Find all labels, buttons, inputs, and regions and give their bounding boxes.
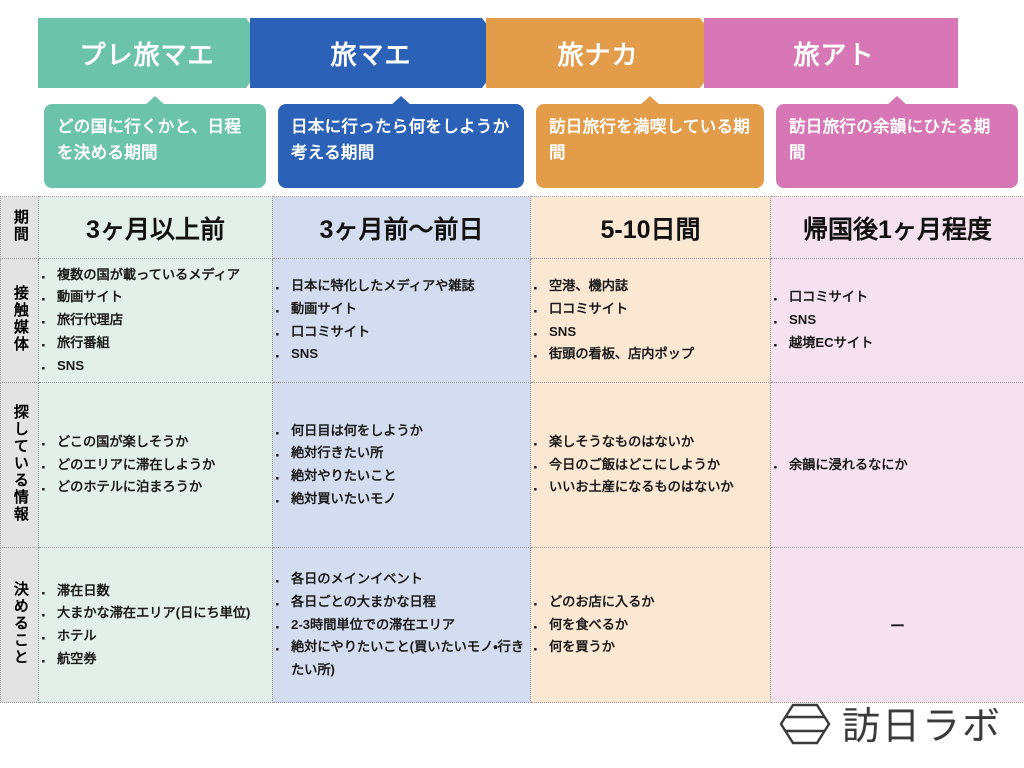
media-cell-before-trip: 日本に特化したメディアや雑誌動画サイト口コミサイトSNS [273, 259, 531, 383]
media-cell-pre-trip: 複数の国が載っているメディア動画サイト旅行代理店旅行番組SNS [39, 259, 273, 383]
list-item: 絶対買いたいモノ [273, 488, 530, 511]
period-cell-after-trip: 帰国後1ヶ月程度 [771, 197, 1024, 259]
brand-logo-text: 訪日ラボ [842, 708, 1002, 746]
list-item: 何日目は何をしようか [273, 420, 530, 443]
deciding-cell-after-trip: ー [771, 548, 1024, 703]
phase-arrow-during-trip[interactable]: 旅ナカ [486, 18, 726, 88]
phase-arrow-pre-trip[interactable]: プレ旅マエ [38, 18, 272, 88]
list-item: 2-3時間単位での滞在エリア [273, 614, 530, 637]
callout-wrap-pre-trip: どの国に行くかと、日程を決める期間 [38, 96, 272, 188]
callout-during-trip: 訪日旅行を満喫している期間 [536, 104, 764, 188]
list-item: 滞在日数 [39, 580, 272, 603]
phase-description-callouts: どの国に行くかと、日程を決める期間 日本に行ったら何をしようか考える期間 訪日旅… [38, 96, 1024, 188]
list-item: いいお土産になるものはないか [531, 476, 770, 499]
list-item: 空港、機内誌 [531, 275, 770, 298]
searching-cell-pre-trip: どこの国が楽しそうかどのエリアに滞在しようかどのホテルに泊まろうか [39, 383, 273, 548]
searching-cell-before-trip: 何日目は何をしようか絶対行きたい所絶対やりたいこと絶対買いたいモノ [273, 383, 531, 548]
bullet-list: どこの国が楽しそうかどのエリアに滞在しようかどのホテルに泊まろうか [39, 431, 272, 499]
deciding-cell-before-trip: 各日のメインイベント各日ごとの大まかな日程2-3時間単位での滞在エリア絶対にやり… [273, 548, 531, 703]
list-item: 口コミサイト [771, 286, 1024, 309]
list-item: どのホテルに泊まろうか [39, 476, 272, 499]
hexagon-logo-icon [779, 701, 831, 752]
row-label-text: 接触媒体 [11, 285, 28, 353]
callout-before-trip: 日本に行ったら何をしようか考える期間 [278, 104, 524, 188]
phase-arrow-banner: プレ旅マエ 旅マエ 旅ナカ 旅アト [38, 18, 1024, 88]
period-cell-during-trip: 5-10日間 [531, 197, 771, 259]
list-item: どこの国が楽しそうか [39, 431, 272, 454]
bullet-list: 複数の国が載っているメディア動画サイト旅行代理店旅行番組SNS [39, 264, 272, 378]
brand-logo[interactable]: 訪日ラボ [779, 701, 1002, 752]
phase-arrow-label: プレ旅マエ [73, 35, 214, 72]
list-item: 街頭の看板、店内ポップ [531, 343, 770, 366]
list-item: 日本に特化したメディアや雑誌 [273, 275, 530, 298]
callout-wrap-after-trip: 訪日旅行の余韻にひたる期間 [770, 96, 1024, 188]
list-item: SNS [771, 309, 1024, 332]
table-row-media: 接触媒体 複数の国が載っているメディア動画サイト旅行代理店旅行番組SNS 日本に… [1, 259, 1024, 383]
list-item: 動画サイト [273, 298, 530, 321]
searching-cell-during-trip: 楽しそうなものはないか今日のご飯はどこにしようかいいお土産になるものはないか [531, 383, 771, 548]
list-item: SNS [531, 321, 770, 344]
list-item: 口コミサイト [531, 298, 770, 321]
list-item: 旅行代理店 [39, 309, 272, 332]
phase-arrow-label: 旅ナカ [551, 35, 638, 72]
deciding-cell-pre-trip: 滞在日数大まかな滞在エリア(日にち単位)ホテル航空券 [39, 548, 273, 703]
period-cell-before-trip: 3ヶ月前〜前日 [273, 197, 531, 259]
list-item: 楽しそうなものはないか [531, 431, 770, 454]
media-cell-during-trip: 空港、機内誌口コミサイトSNS街頭の看板、店内ポップ [531, 259, 771, 383]
list-item: 動画サイト [39, 286, 272, 309]
list-item: 絶対行きたい所 [273, 442, 530, 465]
searching-cell-after-trip: 余韻に浸れるなにか [771, 383, 1024, 548]
list-item: SNS [39, 355, 272, 378]
phase-arrow-label: 旅アト [787, 35, 874, 72]
phase-arrow-before-trip[interactable]: 旅マエ [250, 18, 508, 88]
list-item: 口コミサイト [273, 321, 530, 344]
list-item: 今日のご飯はどこにしようか [531, 454, 770, 477]
list-item: ホテル [39, 625, 272, 648]
bullet-list: 口コミサイトSNS越境ECサイト [771, 286, 1024, 354]
row-label-searching: 探している情報 [1, 383, 39, 548]
table-row-searching: 探している情報 どこの国が楽しそうかどのエリアに滞在しようかどのホテルに泊まろう… [1, 383, 1024, 548]
bullet-list: 空港、機内誌口コミサイトSNS街頭の看板、店内ポップ [531, 275, 770, 366]
bullet-list: どのお店に入るか何を食べるか何を買うか [531, 591, 770, 659]
list-item: 大まかな滞在エリア(日にち単位) [39, 602, 272, 625]
list-item: 各日ごとの大まかな日程 [273, 591, 530, 614]
phase-arrow-label: 旅マエ [324, 35, 411, 72]
row-label-deciding: 決めること [1, 548, 39, 703]
bullet-list: 余韻に浸れるなにか [771, 454, 1024, 477]
table-row-deciding: 決めること 滞在日数大まかな滞在エリア(日にち単位)ホテル航空券 各日のメインイ… [1, 548, 1024, 703]
list-item: 何を買うか [531, 636, 770, 659]
list-item: 何を食べるか [531, 614, 770, 637]
list-item: 絶対にやりたいこと(買いたいモノ・行きたい所) [273, 636, 530, 681]
phase-arrow-after-trip[interactable]: 旅アト [704, 18, 958, 88]
callout-wrap-during-trip: 訪日旅行を満喫している期間 [530, 96, 770, 188]
list-item: 絶対やりたいこと [273, 465, 530, 488]
row-label-text: 期間 [11, 209, 28, 243]
list-item: 各日のメインイベント [273, 568, 530, 591]
table-row-period: 期間 3ヶ月以上前 3ヶ月前〜前日 5-10日間 帰国後1ヶ月程度 [1, 197, 1024, 259]
list-item: どのエリアに滞在しようか [39, 454, 272, 477]
bullet-list: 何日目は何をしようか絶対行きたい所絶対やりたいこと絶対買いたいモノ [273, 420, 530, 511]
slide-canvas: プレ旅マエ 旅マエ 旅ナカ 旅アト どの国に行くかと、日程を決める期間 日本に行… [0, 0, 1024, 768]
bullet-list: 滞在日数大まかな滞在エリア(日にち単位)ホテル航空券 [39, 580, 272, 671]
list-item: 越境ECサイト [771, 332, 1024, 355]
list-item: 複数の国が載っているメディア [39, 264, 272, 287]
row-label-text: 決めること [11, 581, 28, 666]
list-item: 余韻に浸れるなにか [771, 454, 1024, 477]
bullet-list: 日本に特化したメディアや雑誌動画サイト口コミサイトSNS [273, 275, 530, 366]
list-item: 旅行番組 [39, 332, 272, 355]
row-label-text: 探している情報 [11, 404, 28, 523]
callout-wrap-before-trip: 日本に行ったら何をしようか考える期間 [272, 96, 530, 188]
list-item: どのお店に入るか [531, 591, 770, 614]
callout-pre-trip: どの国に行くかと、日程を決める期間 [44, 104, 266, 188]
phase-matrix-table: 期間 3ヶ月以上前 3ヶ月前〜前日 5-10日間 帰国後1ヶ月程度 接触媒体 複… [0, 196, 1024, 703]
deciding-cell-during-trip: どのお店に入るか何を食べるか何を買うか [531, 548, 771, 703]
period-cell-pre-trip: 3ヶ月以上前 [39, 197, 273, 259]
row-label-period: 期間 [1, 197, 39, 259]
bullet-list: 楽しそうなものはないか今日のご飯はどこにしようかいいお土産になるものはないか [531, 431, 770, 499]
bullet-list: 各日のメインイベント各日ごとの大まかな日程2-3時間単位での滞在エリア絶対にやり… [273, 568, 530, 682]
callout-after-trip: 訪日旅行の余韻にひたる期間 [776, 104, 1018, 188]
list-item: SNS [273, 343, 530, 366]
row-label-media: 接触媒体 [1, 259, 39, 383]
list-item: 航空券 [39, 648, 272, 671]
media-cell-after-trip: 口コミサイトSNS越境ECサイト [771, 259, 1024, 383]
